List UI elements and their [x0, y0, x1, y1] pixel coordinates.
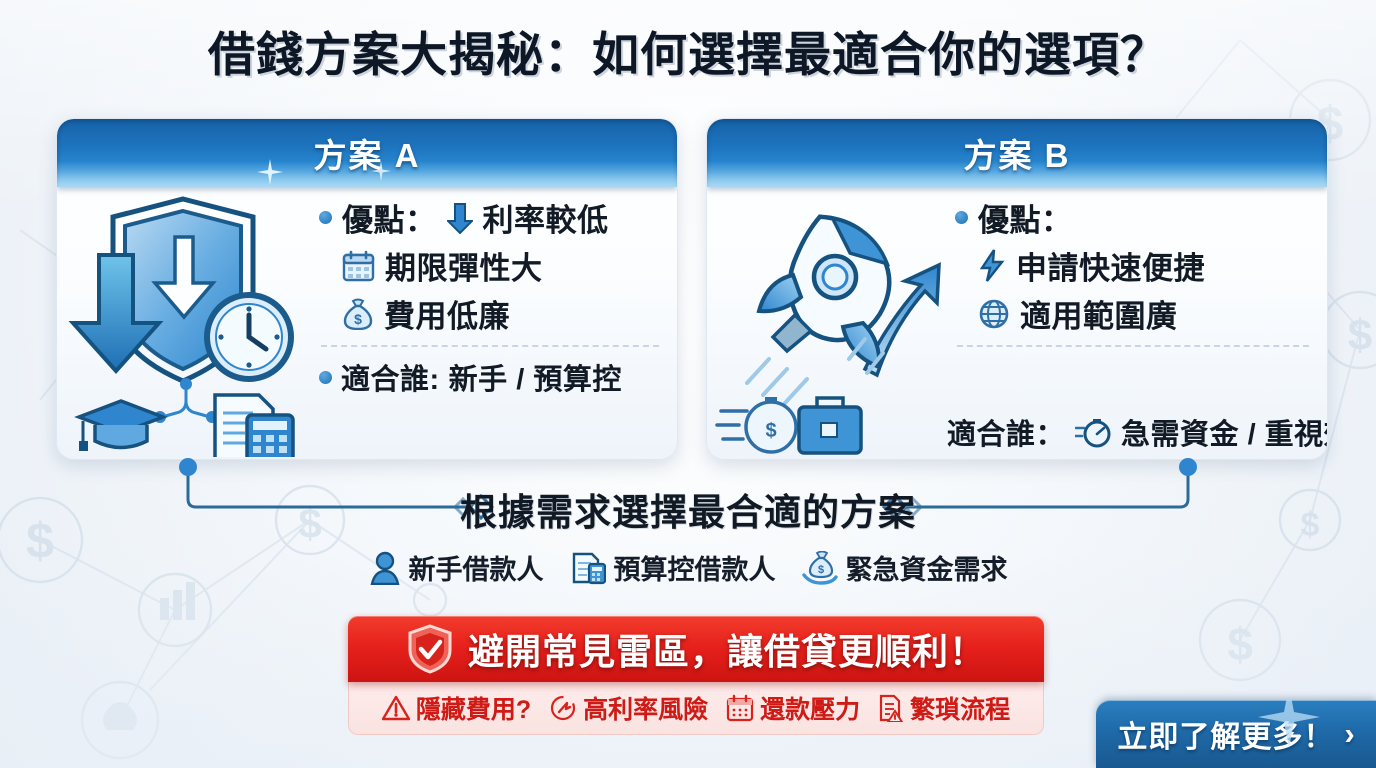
stopwatch-icon: [1075, 416, 1111, 448]
plan-a-header: 方案 A: [57, 119, 677, 187]
plan-a-who-row: 適合誰: 新手 / 預算控: [319, 356, 663, 398]
risk-item[interactable]: 還款壓力: [726, 690, 860, 726]
plan-b-content: 優點： 申請快速便捷 適用範圍廣: [955, 195, 1313, 356]
plan-b-pros-header: 優點：: [955, 195, 1313, 240]
high-rate-icon: [549, 694, 577, 722]
plan-a-header-title: 方案 A: [314, 129, 421, 177]
risk-label: 還款壓力: [760, 690, 860, 726]
plan-a-who-value: 新手 / 預算控: [449, 356, 622, 398]
persona-list: 新手借款人 預算控借款人 $ 緊急資金需求: [0, 548, 1376, 587]
risk-block: 避開常見雷區，讓借貸更順利！ 隱藏費用? 高利率風險: [348, 616, 1044, 735]
risk-banner[interactable]: 避開常見雷區，讓借貸更順利！: [348, 616, 1044, 682]
middle-label: 根據需求選擇最合適的方案: [0, 482, 1376, 536]
svg-text:$: $: [817, 564, 823, 576]
chevron-right-icon: ›: [1344, 716, 1354, 752]
plan-b-who-row: 適合誰： 急需資金 / 重視效率: [719, 411, 1319, 453]
plan-b-card[interactable]: 方案 B: [706, 118, 1328, 460]
plan-a-card[interactable]: 方案 A: [56, 118, 678, 460]
person-icon: [369, 551, 401, 585]
risk-label: 高利率風險: [583, 690, 708, 726]
calendar-pressure-icon: [726, 694, 754, 722]
persona-label: 預算控借款人: [614, 548, 776, 587]
sparkle-icon: [257, 159, 283, 185]
plan-b-body: $ 優點： 申請快速便捷: [707, 187, 1327, 459]
persona-item[interactable]: 新手借款人: [369, 548, 544, 587]
globe-icon: [978, 298, 1010, 330]
money-bag-icon: $: [342, 297, 374, 330]
bullet-icon: [319, 371, 332, 384]
shield-check-icon: [406, 623, 454, 675]
plan-a-illustration: [65, 189, 315, 457]
down-arrow-icon: [447, 202, 473, 234]
risk-label: 繁瑣流程: [910, 690, 1010, 726]
persona-label: 新手借款人: [409, 548, 544, 587]
cta-button[interactable]: 立即了解更多！ ›: [1096, 700, 1376, 768]
plan-a-divider: [321, 345, 659, 347]
plan-a-content: 優點： 利率較低: [319, 195, 663, 398]
bullet-icon: [319, 211, 332, 224]
risk-banner-text: 避開常見雷區，讓借貸更順利！: [468, 623, 986, 675]
plan-b-header: 方案 B: [707, 119, 1327, 187]
svg-text:$: $: [354, 311, 362, 327]
warning-triangle-icon: [382, 695, 410, 721]
sparkle-icon: [1258, 700, 1320, 748]
persona-item[interactable]: 預算控借款人: [570, 548, 776, 587]
persona-item[interactable]: $ 緊急資金需求: [802, 548, 1008, 587]
plan-b-pros-label: 優點：: [978, 195, 1073, 240]
lightning-icon: [978, 249, 1006, 282]
risk-item[interactable]: 高利率風險: [549, 690, 708, 726]
plan-a-body: 優點： 利率較低: [57, 187, 677, 459]
plan-b-pro-text: 申請快速便捷: [1016, 243, 1205, 288]
risk-item-list: 隱藏費用? 高利率風險: [348, 682, 1044, 735]
calendar-icon: [342, 250, 375, 282]
plan-b-pro-item: 申請快速便捷: [955, 243, 1313, 288]
document-warning-icon: [878, 694, 904, 722]
connector-dot-left: [179, 458, 197, 476]
plan-b-divider: [957, 345, 1309, 347]
plan-a-pros-header: 優點： 利率較低: [319, 195, 663, 240]
plan-a-pros-label: 優點：: [342, 195, 437, 240]
plan-a-pro-item: 期限彈性大: [319, 243, 663, 288]
connector-dot-right: [1179, 458, 1197, 476]
hand-money-bag-icon: $: [802, 551, 838, 585]
plan-a-pro-text: 費用低廉: [384, 291, 510, 336]
plan-b-pro-item: 適用範圍廣: [955, 291, 1313, 336]
persona-label: 緊急資金需求: [846, 548, 1008, 587]
plan-a-who-label: 適合誰:: [341, 356, 440, 398]
plan-a-pro-item: $ 費用低廉: [319, 291, 663, 336]
risk-label: 隱藏費用?: [416, 690, 531, 726]
plan-b-pro-text: 適用範圍廣: [1020, 291, 1178, 336]
page-title: 借錢方案大揭秘：如何選擇最適合你的選項？: [0, 16, 1376, 85]
plan-b-who-label: 適合誰：: [947, 411, 1065, 453]
risk-item[interactable]: 隱藏費用?: [382, 690, 531, 726]
risk-item[interactable]: 繁瑣流程: [878, 690, 1010, 726]
plan-a-pro-text: 期限彈性大: [385, 243, 543, 288]
plan-a-pros-first-text: 利率較低: [483, 195, 609, 240]
plan-b-header-title: 方案 B: [964, 129, 1071, 177]
document-calculator-icon: [570, 551, 606, 585]
plan-b-who-value: 急需資金 / 重視效率: [1121, 411, 1328, 453]
bullet-icon: [955, 211, 968, 224]
